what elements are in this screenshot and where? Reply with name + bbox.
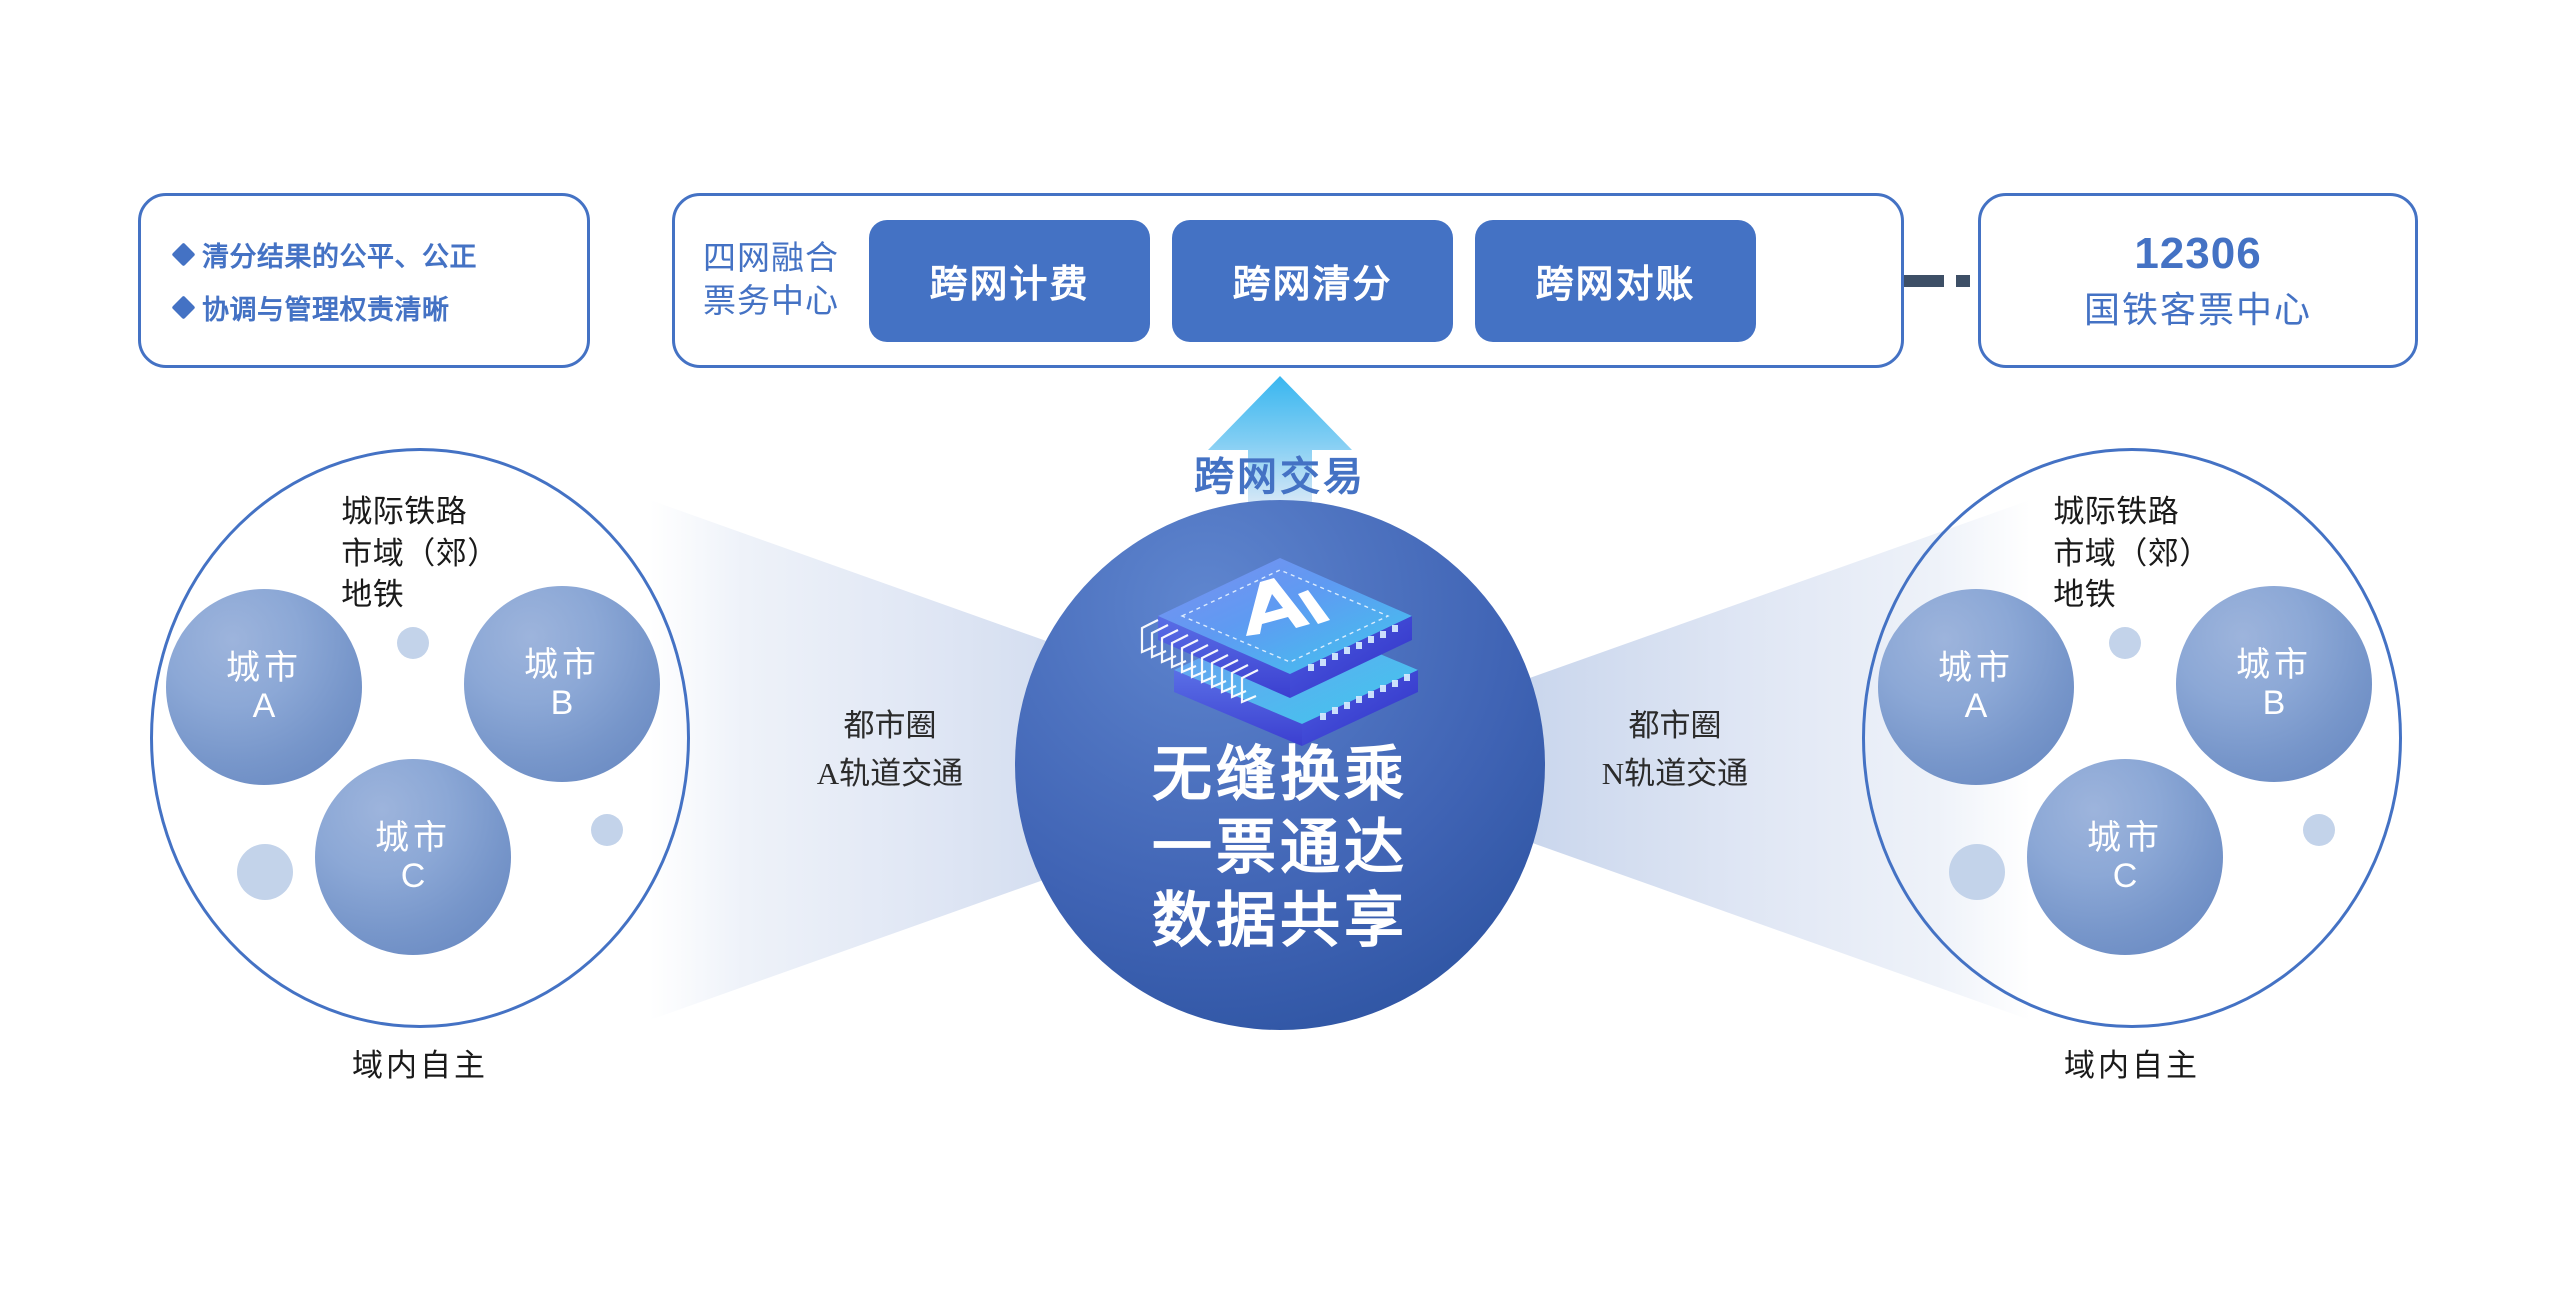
diamond-bullet-icon bbox=[171, 242, 195, 266]
pill-cross-network-billing[interactable]: 跨网计费 bbox=[869, 220, 1150, 342]
city-code: A bbox=[1965, 687, 1988, 725]
decor-dot bbox=[237, 844, 293, 900]
city-label: 城市 bbox=[524, 646, 600, 684]
city-label: 城市 bbox=[226, 649, 302, 687]
city-label: 城市 bbox=[2236, 646, 2312, 684]
rail-type-line3: 地铁 bbox=[341, 574, 499, 616]
domain-right-autonomy-label: 域内自主 bbox=[2064, 1040, 2200, 1085]
core-slogan-line2: 一票通达 bbox=[1015, 811, 1545, 884]
core-slogan: 无缝换乘 一票通达 数据共享 bbox=[1015, 738, 1545, 958]
rail-type-line2: 市域（郊） bbox=[341, 533, 499, 575]
wing-caption-left-line2: A轨道交通 bbox=[760, 750, 1020, 798]
rail-type-line1: 城际铁路 bbox=[2053, 491, 2211, 533]
decor-dot bbox=[397, 627, 429, 659]
city-node-b-left[interactable]: 城市 B bbox=[464, 586, 660, 782]
city-node-c-left[interactable]: 城市 C bbox=[315, 759, 511, 955]
core-slogan-line3: 数据共享 bbox=[1015, 884, 1545, 957]
bullet-item: 协调与管理权责清晰 bbox=[175, 288, 577, 327]
rail-type-line3: 地铁 bbox=[2053, 574, 2211, 616]
domain-left-autonomy-label: 域内自主 bbox=[352, 1040, 488, 1085]
domain-right-rail-types: 城际铁路 市域（郊） 地铁 bbox=[2053, 491, 2211, 616]
principles-card: 清分结果的公平、公正 协调与管理权责清晰 bbox=[138, 193, 590, 368]
wing-caption-left-line1: 都市圈 bbox=[760, 702, 1020, 750]
city-node-b-right[interactable]: 城市 B bbox=[2176, 586, 2372, 782]
diagram-canvas: 清分结果的公平、公正 协调与管理权责清晰 四网融合 票务中心 跨网计费 跨网清分… bbox=[0, 0, 2560, 1301]
city-code: B bbox=[2263, 684, 2286, 722]
decor-dot bbox=[2303, 814, 2335, 846]
decor-dot bbox=[1949, 844, 2005, 900]
rail-type-line2: 市域（郊） bbox=[2053, 533, 2211, 575]
pill-cross-network-clearing[interactable]: 跨网清分 bbox=[1172, 220, 1453, 342]
domain-left-rail-types: 城际铁路 市域（郊） 地铁 bbox=[341, 491, 499, 616]
ticket-center-card: 四网融合 票务中心 跨网计费 跨网清分 跨网对账 bbox=[672, 193, 1904, 368]
ticket-center-title: 四网融合 票务中心 bbox=[703, 238, 839, 322]
decor-dot bbox=[591, 814, 623, 846]
diamond-bullet-icon bbox=[171, 295, 195, 319]
rail-ticket-center-card: 12306 国铁客票中心 bbox=[1978, 193, 2418, 368]
rail-type-line1: 城际铁路 bbox=[341, 491, 499, 533]
cross-network-transaction-label: 跨网交易 bbox=[1150, 444, 1410, 502]
bullet-label: 清分结果的公平、公正 bbox=[202, 235, 477, 274]
city-node-a-right[interactable]: 城市 A bbox=[1878, 589, 2074, 785]
rail-hotline-number: 12306 bbox=[2134, 229, 2261, 279]
pill-cross-network-reconciliation[interactable]: 跨网对账 bbox=[1475, 220, 1756, 342]
ticket-center-title-line1: 四网融合 bbox=[703, 238, 839, 280]
city-code: C bbox=[401, 857, 426, 895]
city-node-c-right[interactable]: 城市 C bbox=[2027, 759, 2223, 955]
city-node-a-left[interactable]: 城市 A bbox=[166, 589, 362, 785]
domain-circle-left: 城际铁路 市域（郊） 地铁 城市 A 城市 B 城市 C 域内自主 bbox=[150, 448, 690, 1028]
city-code: C bbox=[2113, 857, 2138, 895]
wing-caption-right: 都市圈 N轨道交通 bbox=[1545, 702, 1805, 798]
wing-caption-left: 都市圈 A轨道交通 bbox=[760, 702, 1020, 798]
city-label: 城市 bbox=[2087, 819, 2163, 857]
bullet-item: 清分结果的公平、公正 bbox=[175, 235, 577, 274]
ticket-center-title-line2: 票务中心 bbox=[703, 281, 839, 323]
bullet-label: 协调与管理权责清晰 bbox=[202, 288, 450, 327]
city-label: 城市 bbox=[1938, 649, 2014, 687]
rail-center-name: 国铁客票中心 bbox=[2084, 281, 2312, 333]
ai-chip-icon bbox=[1122, 520, 1438, 750]
domain-circle-right: 城际铁路 市域（郊） 地铁 城市 A 城市 B 城市 C 域内自主 bbox=[1862, 448, 2402, 1028]
wing-caption-right-line2: N轨道交通 bbox=[1545, 750, 1805, 798]
core-sphere: 无缝换乘 一票通达 数据共享 bbox=[1015, 500, 1545, 1030]
city-label: 城市 bbox=[375, 819, 451, 857]
decor-dot bbox=[2109, 627, 2141, 659]
city-code: B bbox=[551, 684, 574, 722]
city-code: A bbox=[253, 687, 276, 725]
core-slogan-line1: 无缝换乘 bbox=[1015, 738, 1545, 811]
wing-caption-right-line1: 都市圈 bbox=[1545, 702, 1805, 750]
